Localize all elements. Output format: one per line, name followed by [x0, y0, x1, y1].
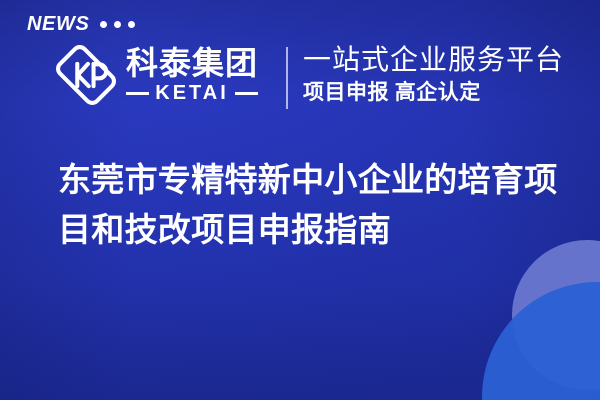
logo-company-name-en: KETAI: [155, 83, 229, 103]
slogan-secondary: 项目申报 高企认定: [303, 81, 564, 104]
logo-rule-right: [235, 92, 258, 95]
news-dots-icon: [100, 21, 135, 28]
news-banner: NEWS 科泰集团 KETAI 一站式企业服: [0, 0, 600, 400]
headline-title: 东莞市专精特新中小企业的培育项目和技改项目申报指南: [58, 155, 564, 254]
news-dot-1: [100, 21, 107, 28]
logo-company-name-cn: 科泰集团: [126, 47, 258, 79]
eyebrow-news: NEWS: [27, 14, 135, 34]
news-label: NEWS: [27, 14, 89, 34]
logo-rule-left: [126, 92, 149, 95]
news-dot-2: [114, 21, 121, 28]
logo-slogan-divider: [286, 47, 288, 109]
slogan-primary: 一站式企业服务平台: [303, 44, 564, 76]
ketai-diamond-monogram-icon: [55, 44, 117, 106]
logo-company-name-en-row: KETAI: [126, 83, 258, 103]
news-dot-3: [128, 21, 135, 28]
logo-wordmark: 科泰集团 KETAI: [126, 47, 258, 103]
company-logo: 科泰集团 KETAI: [55, 44, 258, 106]
slogan-block: 一站式企业服务平台 项目申报 高企认定: [303, 44, 564, 104]
